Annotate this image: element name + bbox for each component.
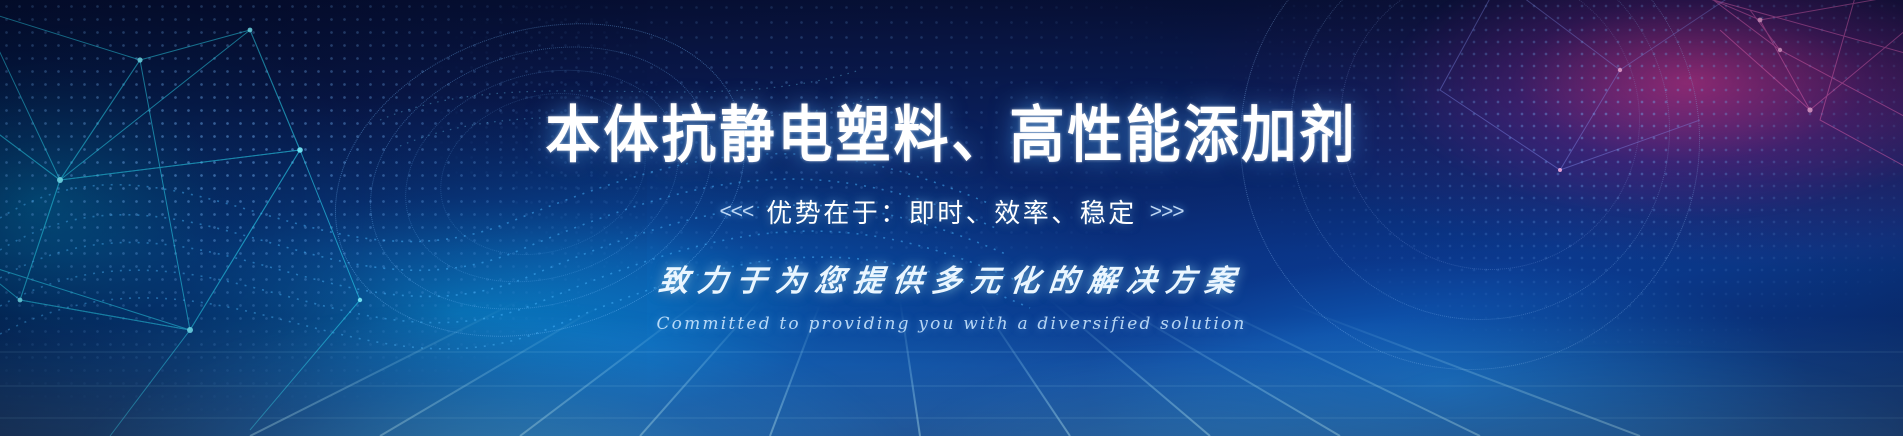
banner-subtitle-row: <<< 优势在于：即时、效率、稳定 >>>	[719, 193, 1183, 230]
banner-content: 本体抗静电塑料、高性能添加剂 <<< 优势在于：即时、效率、稳定 >>> 致力于…	[0, 0, 1903, 436]
hero-banner: 本体抗静电塑料、高性能添加剂 <<< 优势在于：即时、效率、稳定 >>> 致力于…	[0, 0, 1903, 436]
banner-english-tagline: Committed to providing you with a divers…	[656, 314, 1246, 334]
banner-calligraphy-slogan: 致力于为您提供多元化的解决方案	[657, 256, 1247, 300]
chevron-right-icon: >>>	[1150, 200, 1184, 224]
banner-title: 本体抗静电塑料、高性能添加剂	[545, 105, 1357, 167]
banner-subtitle: 优势在于：即时、效率、稳定	[766, 193, 1137, 230]
chevron-left-icon: <<<	[719, 200, 753, 224]
